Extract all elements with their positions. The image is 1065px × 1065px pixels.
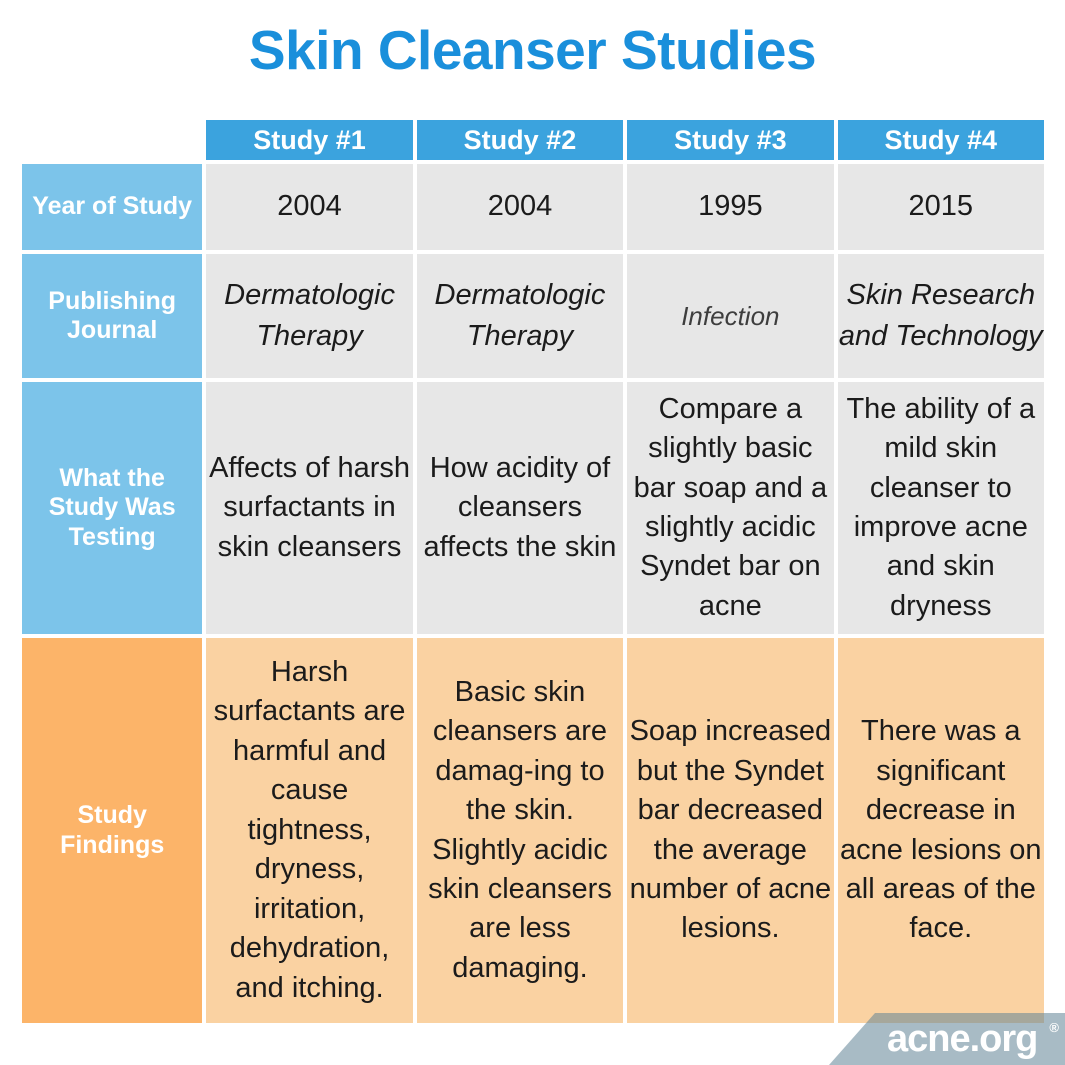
- column-header-study-4: Study #4: [838, 120, 1044, 160]
- table-row-year-of-study: Year of Study 2004 2004 1995 2015: [22, 164, 1044, 250]
- table-header-row: Study #1 Study #2 Study #3 Study #4: [22, 120, 1044, 160]
- cell-year-study-1: 2004: [206, 164, 412, 250]
- cell-findings-study-4: There was a significant decrease in acne…: [838, 638, 1044, 1023]
- row-label-study-findings: Study Findings: [22, 638, 202, 1023]
- table-row-what-study-was-testing: What the Study Was Testing Affects of ha…: [22, 382, 1044, 634]
- column-header-study-1: Study #1: [206, 120, 412, 160]
- studies-comparison-table: Study #1 Study #2 Study #3 Study #4 Year…: [18, 116, 1048, 1027]
- cell-testing-study-3: Compare a slightly basic bar soap and a …: [627, 382, 833, 634]
- infographic-table-page: Skin Cleanser Studies Study #1 Study #2 …: [0, 0, 1065, 1065]
- page-title: Skin Cleanser Studies: [0, 22, 1065, 80]
- cell-journal-study-3: Infection: [627, 254, 833, 378]
- cell-findings-study-2: Basic skin cleansers are damag-ing to th…: [417, 638, 623, 1023]
- cell-year-study-3: 1995: [627, 164, 833, 250]
- table-corner-blank: [22, 120, 202, 160]
- cell-year-study-2: 2004: [417, 164, 623, 250]
- registered-trademark-icon: ®: [1049, 1021, 1059, 1034]
- cell-journal-study-1: Dermatologic Therapy: [206, 254, 412, 378]
- cell-journal-study-2: Dermatologic Therapy: [417, 254, 623, 378]
- cell-year-study-4: 2015: [838, 164, 1044, 250]
- cell-journal-study-4: Skin Research and Technology: [838, 254, 1044, 378]
- cell-testing-study-2: How acidity of cleansers affects the ski…: [417, 382, 623, 634]
- cell-findings-study-1: Harsh surfactants are harmful and cause …: [206, 638, 412, 1023]
- row-label-publishing-journal: Publishing Journal: [22, 254, 202, 378]
- table-row-publishing-journal: Publishing Journal Dermatologic Therapy …: [22, 254, 1044, 378]
- cell-testing-study-1: Affects of harsh surfactants in skin cle…: [206, 382, 412, 634]
- table-row-study-findings: Study Findings Harsh surfactants are har…: [22, 638, 1044, 1023]
- row-label-what-study-was-testing: What the Study Was Testing: [22, 382, 202, 634]
- column-header-study-2: Study #2: [417, 120, 623, 160]
- cell-findings-study-3: Soap increased but the Syndet bar decrea…: [627, 638, 833, 1023]
- row-label-year-of-study: Year of Study: [22, 164, 202, 250]
- column-header-study-3: Study #3: [627, 120, 833, 160]
- cell-testing-study-4: The ability of a mild skin cleanser to i…: [838, 382, 1044, 634]
